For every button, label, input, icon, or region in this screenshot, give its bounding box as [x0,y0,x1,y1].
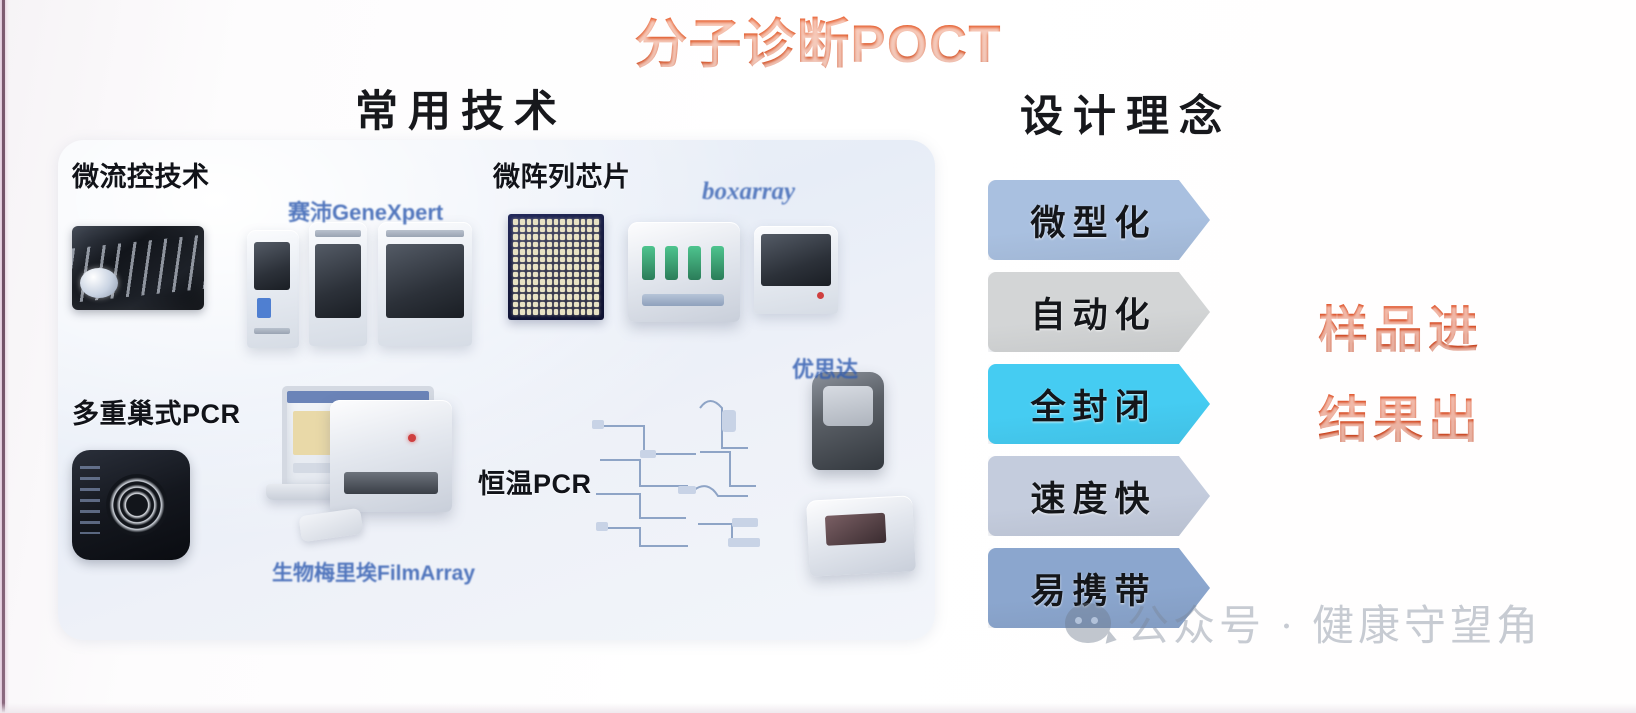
brand-label-filmarray: 生物梅里埃FilmArray [272,557,475,587]
design-principle-label: 速度快 [1023,471,1156,522]
label-microarray: 微阵列芯片 [493,155,631,194]
label-microfluidics: 微流控技术 [72,155,210,194]
microarray-chip-image [508,214,604,320]
brand-label-usd: 优思达 [792,352,858,384]
microfluidic-chip-image [72,226,204,310]
design-principle-miniaturization: 微型化 [988,180,1210,260]
label-isothermal-pcr: 恒温PCR [478,462,592,501]
benchtop-instrument-image [754,226,838,314]
slide-bottom-edge [0,703,1636,713]
design-principle-automation: 自动化 [988,272,1210,352]
watermark-text: 公众号 · 健康守望角 [1127,592,1542,653]
technologies-panel [58,140,935,640]
design-principle-fully-enclosed: 全封闭 [988,364,1210,444]
usd-device-benchtop-image [806,495,916,576]
pcr-analyzer-image [330,400,452,512]
design-principle-label: 微型化 [1023,195,1156,246]
design-principle-fast: 速度快 [988,456,1210,536]
section-heading-design-philosophy: 设计理念 [1020,82,1232,144]
usd-device-upright-image [812,372,884,470]
label-multiplex-nested-pcr: 多重巢式PCR [72,392,241,431]
section-heading-common-technologies: 常用技术 [355,77,567,139]
wechat-icon [1065,603,1111,643]
slide-left-edge-dark [2,0,5,713]
slide-canvas: 分子诊断POCT 常用技术 设计理念 [0,0,1636,713]
design-principle-label: 全封闭 [1023,379,1156,430]
design-principle-label: 自动化 [1023,287,1156,338]
nested-pcr-chip-image [72,450,190,560]
brand-label-boxarray: boxarray [702,178,795,206]
slogan-line-1: 样品进 [1318,290,1483,362]
page-title: 分子诊断POCT [0,2,1636,78]
slogan-line-2: 结果出 [1318,380,1483,452]
isothermal-pcr-schematic [582,390,772,565]
watermark: 公众号 · 健康守望角 [1065,592,1542,653]
brand-label-genexpert: 赛沛GeneXpert [288,195,443,227]
genexpert-instrument-large [378,222,472,346]
boxarray-analyzer-image [628,222,740,322]
genexpert-instrument-small [247,230,299,348]
genexpert-instrument-medium [309,222,367,346]
